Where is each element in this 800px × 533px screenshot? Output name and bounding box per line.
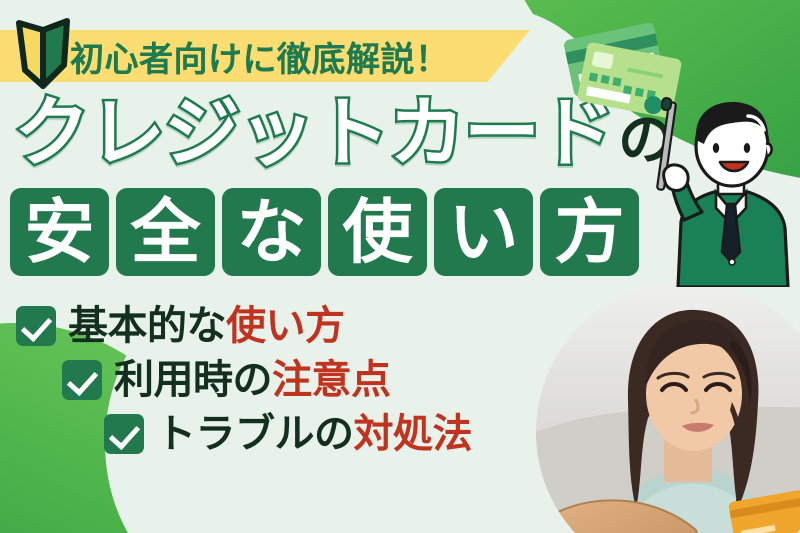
title-char-box: な (222, 188, 321, 276)
check-icon (62, 360, 102, 400)
list-item-text: 利用時の注意点 (114, 359, 391, 401)
teacher-man-illustration (648, 92, 800, 287)
title-char-box: 使 (328, 188, 427, 276)
list-item-text-dark: 基本的な (68, 304, 226, 348)
list-item: 利用時の注意点 (0, 359, 600, 401)
title-char-box: 安 (10, 188, 109, 276)
banner-text: 初心者向けに徹底解説！ (70, 29, 450, 83)
title-line-1-outline: クレジットカード (14, 96, 614, 172)
list-item-text: トラブルの対処法 (156, 413, 472, 455)
thumbnail-canvas: 初心者向けに徹底解説！ クレジットカード の 安 全 な 使 い 方 基本的な使… (0, 0, 800, 533)
list-item: トラブルの対処法 (0, 413, 600, 455)
list-item-text-red: 対処法 (354, 412, 473, 456)
title-char-box: 方 (540, 188, 639, 276)
title-line-2: 安 全 な 使 い 方 (10, 188, 639, 276)
list-item-text-red: 使い方 (226, 304, 345, 348)
beginner-leaf-icon (12, 18, 74, 90)
check-icon (16, 306, 56, 346)
check-icon (104, 414, 144, 454)
list-item-text-red: 注意点 (272, 358, 391, 402)
title-char-box: 全 (116, 188, 215, 276)
list-item-text-dark: トラブルの (156, 412, 354, 456)
list-item: 基本的な使い方 (0, 305, 600, 347)
title-char-box: い (434, 188, 533, 276)
list-item-text: 基本的な使い方 (68, 305, 345, 347)
list-item-text-dark: 利用時の (114, 358, 272, 402)
checklist: 基本的な使い方 利用時の注意点 トラブルの対処法 (0, 305, 600, 467)
